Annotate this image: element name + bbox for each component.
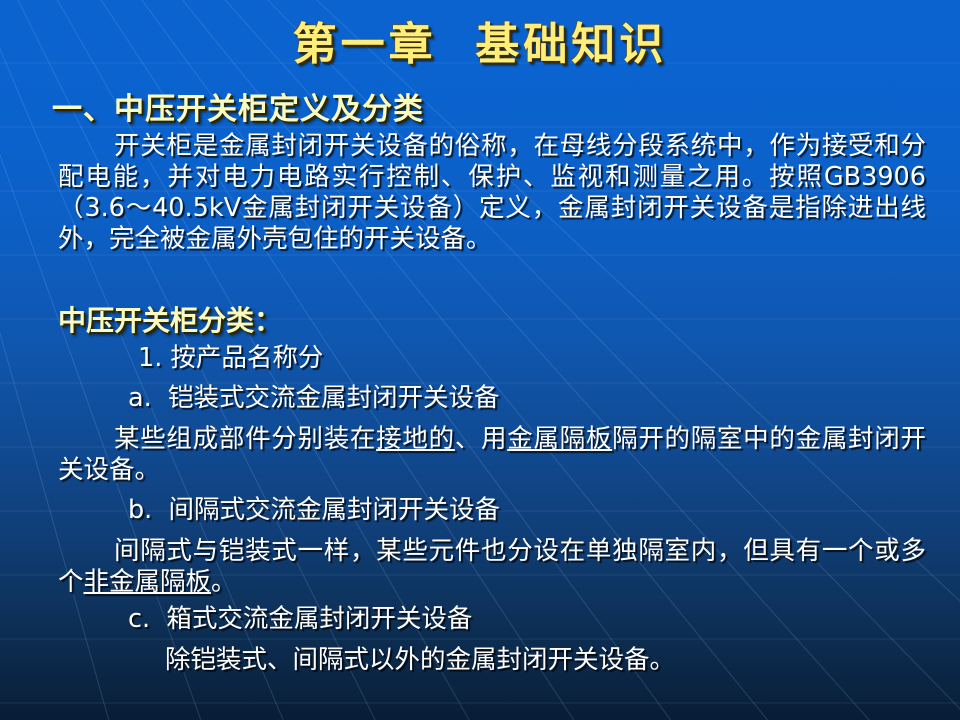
item-c-description: 除铠装式、间隔式以外的金属封闭开关设备。: [165, 645, 675, 676]
item-b-description: 间隔式与铠装式一样，某些元件也分设在单独隔室内，但具有一个或多个非金属隔板。: [58, 536, 926, 598]
presentation-slide: 第一章 基础知识 一、中压开关柜定义及分类 开关柜是金属封闭开关设备的俗称，在母…: [0, 0, 960, 720]
item-a-desc-underline-grounded: 接地的: [376, 424, 455, 454]
slide-subtitle: 一、中压开关柜定义及分类: [52, 84, 424, 128]
list-item-c: c. 箱式交流金属封闭开关设备: [128, 604, 472, 635]
item-b-desc-underline-nonmetal-partition: 非金属隔板: [84, 567, 212, 597]
list-item-a: a. 铠装式交流金属封闭开关设备: [128, 383, 499, 414]
definition-paragraph: 开关柜是金属封闭开关设备的俗称，在母线分段系统中，作为接受和分配电能，并对电力电…: [58, 131, 926, 255]
list-item-b: b. 间隔式交流金属封闭开关设备: [128, 495, 500, 526]
slide-title: 第一章 基础知识: [0, 8, 960, 72]
item-a-desc-pre: 某些组成部件分别装在: [114, 424, 376, 454]
item-a-description: 某些组成部件分别装在接地的、用金属隔板隔开的隔室中的金属封闭开关设备。: [58, 424, 926, 486]
classification-heading: 中压开关柜分类：: [58, 299, 282, 339]
item-a-desc-underline-metal-partition: 金属隔板: [507, 424, 612, 454]
list-item-by-product-name: 1. 按产品名称分: [138, 343, 323, 374]
item-a-desc-mid: 、用: [455, 424, 507, 454]
item-b-desc-post: 。: [211, 567, 237, 597]
